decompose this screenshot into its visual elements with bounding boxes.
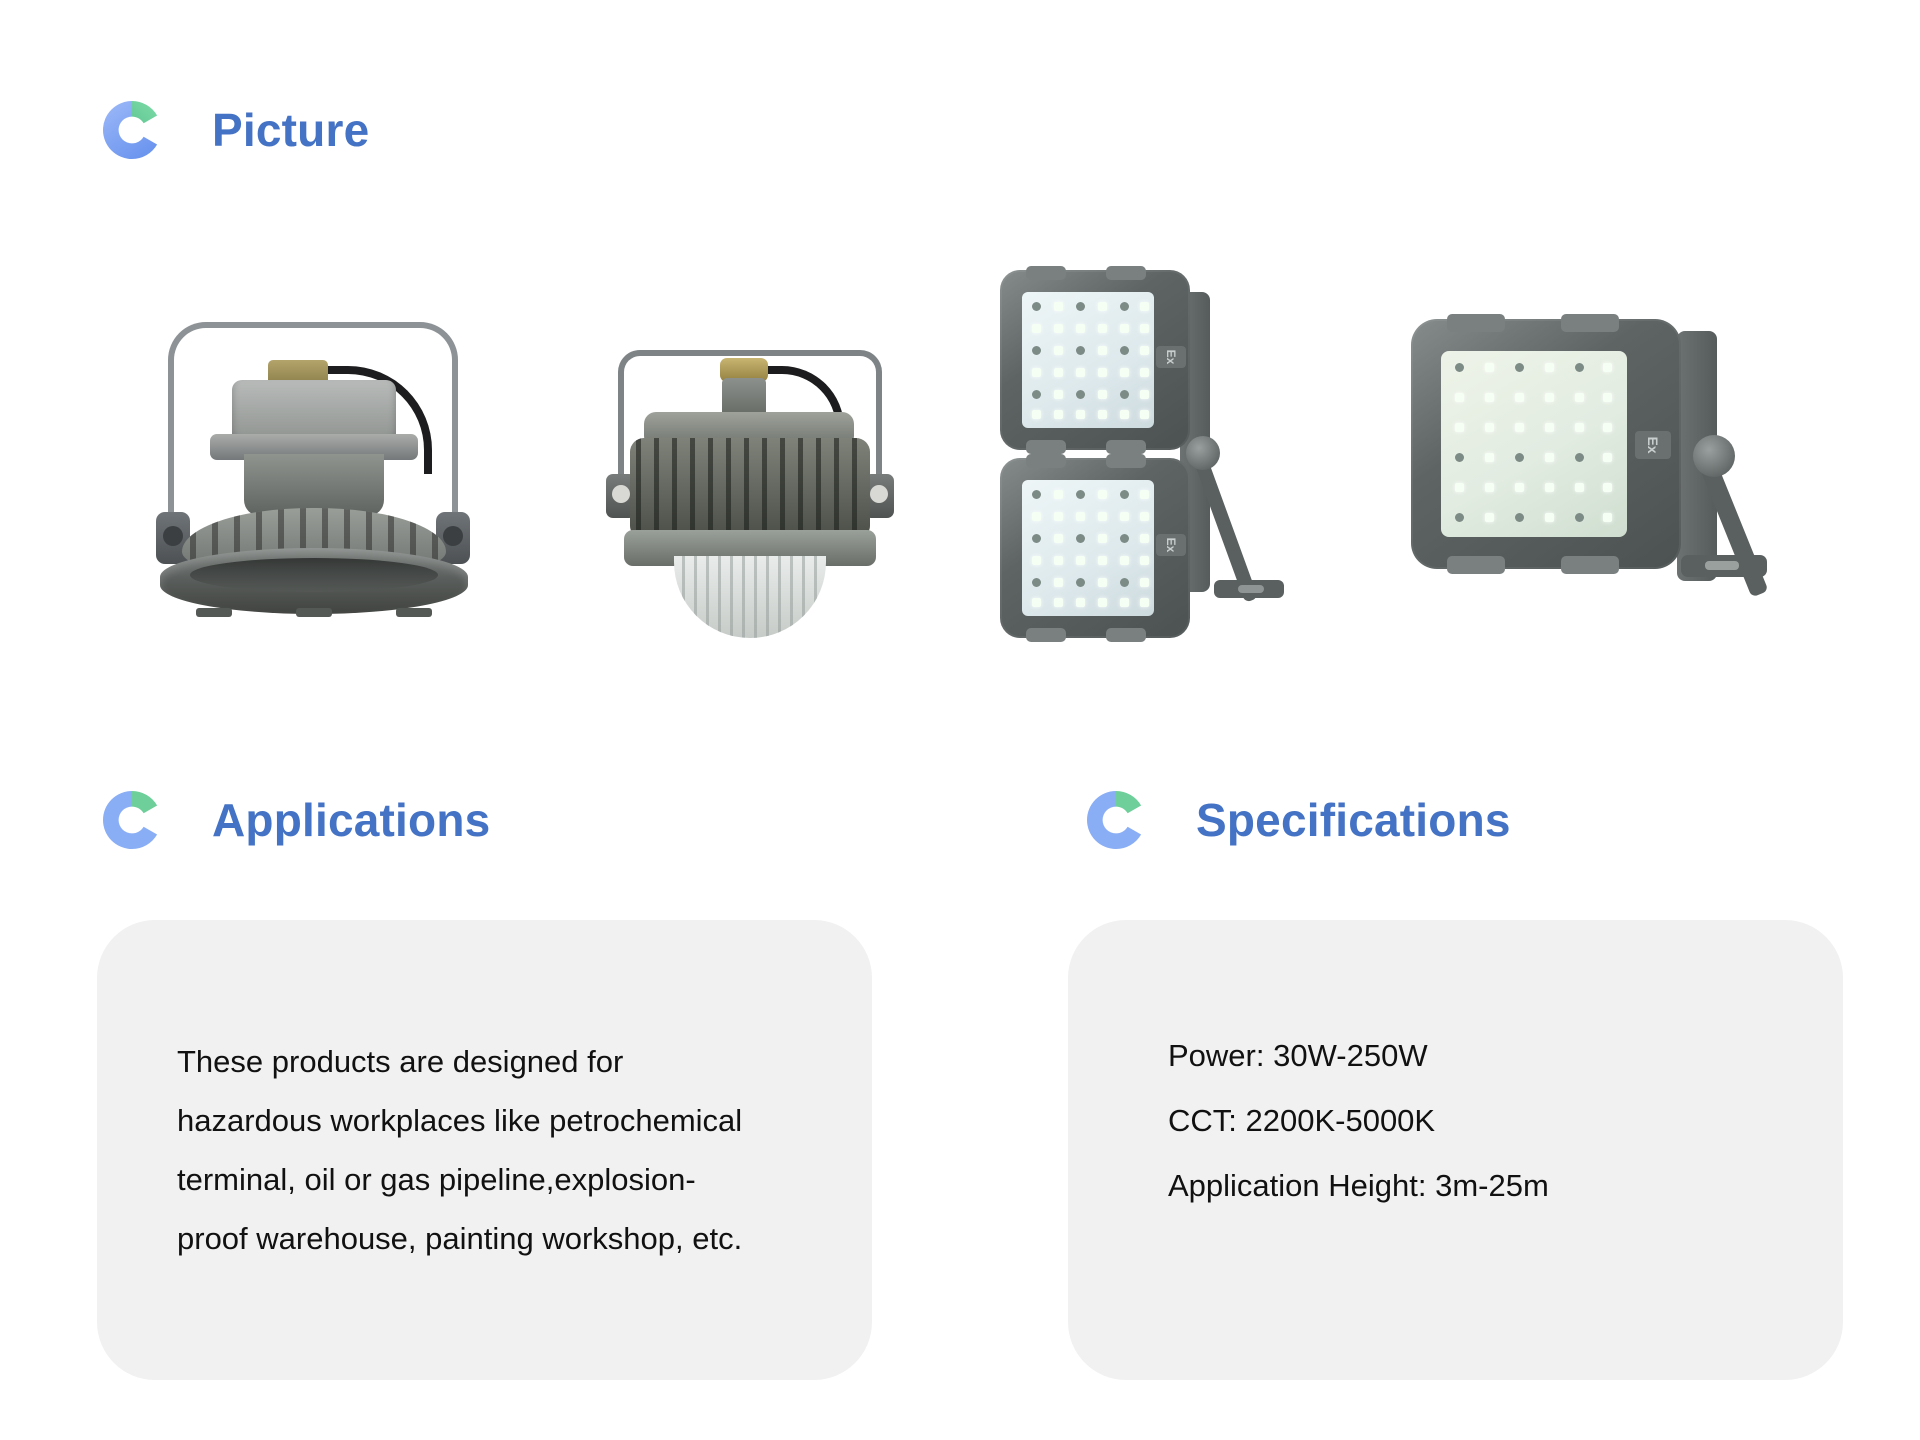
applications-line: proof warehouse, painting workshop, etc.: [177, 1223, 797, 1254]
section-header-picture: Picture: [98, 96, 369, 164]
spec-line-cct: CCT: 2200K-5000K: [1168, 1105, 1808, 1136]
product-image-strip: Ex: [0, 250, 1920, 700]
flood-module-lower: Ex: [1000, 458, 1190, 638]
applications-text: These products are designed for hazardou…: [177, 1046, 797, 1282]
section-header-applications: Applications: [98, 786, 490, 854]
spec-line-application-height: Application Height: 3m-25m: [1168, 1170, 1808, 1201]
housing-bump: [1561, 556, 1619, 574]
housing-bump: [1106, 440, 1146, 454]
spec-line-power: Power: 30W-250W: [1168, 1040, 1808, 1071]
c-ring-logo-icon: [98, 786, 166, 854]
specifications-text: Power: 30W-250W CCT: 2200K-5000K Applica…: [1168, 1040, 1808, 1235]
section-header-specifications: Specifications: [1082, 786, 1511, 854]
applications-line: terminal, oil or gas pipeline,explosion-: [177, 1164, 797, 1195]
section-title: Applications: [212, 797, 490, 843]
ex-marking-label: Ex: [1156, 346, 1186, 368]
rim-foot-right: [396, 608, 432, 617]
housing-bump: [1026, 628, 1066, 642]
housing-bump: [1561, 314, 1619, 332]
rim-foot-left: [196, 608, 232, 617]
heat-sink-fins: [630, 438, 870, 536]
product-image-explosion-proof-led-high-bay-light: [148, 322, 478, 632]
reflector-rim: [160, 548, 468, 614]
c-ring-logo-icon: [1082, 786, 1150, 854]
ex-marking-label: Ex: [1156, 534, 1186, 556]
body-casting: [244, 454, 384, 516]
frosted-glass-dome: [674, 556, 826, 638]
housing-bump: [1106, 454, 1146, 468]
section-title: Specifications: [1196, 797, 1511, 843]
applications-line: These products are designed for: [177, 1046, 797, 1077]
led-lens: [1441, 351, 1627, 537]
housing-bump: [1106, 628, 1146, 642]
housing-bump: [1447, 556, 1505, 574]
specifications-card: Power: 30W-250W CCT: 2200K-5000K Applica…: [1068, 920, 1843, 1380]
ex-marking-label: Ex: [1635, 431, 1671, 459]
bracket-slot: [1238, 585, 1264, 593]
housing-bump: [1106, 266, 1146, 280]
c-ring-logo-icon: [98, 96, 166, 164]
housing-bump: [1447, 314, 1505, 332]
housing-bump: [1026, 440, 1066, 454]
section-title: Picture: [212, 107, 369, 153]
flood-module: Ex: [1411, 319, 1681, 569]
housing-bump: [1026, 454, 1066, 468]
applications-card: These products are designed for hazardou…: [97, 920, 872, 1380]
rim-foot-center: [296, 608, 332, 617]
product-image-explosion-proof-dome-light: [600, 350, 900, 640]
flood-module-upper: Ex: [1000, 270, 1190, 450]
applications-line: hazardous workplaces like petrochemical: [177, 1105, 797, 1136]
product-image-single-module-led-flood-light: Ex: [1405, 305, 1785, 635]
led-lens: [1022, 292, 1154, 428]
bracket-slot: [1705, 561, 1739, 570]
led-lens: [1022, 480, 1154, 616]
housing-bump: [1026, 266, 1066, 280]
tilt-pivot: [1693, 435, 1735, 477]
tilt-pivot: [1186, 436, 1220, 470]
product-image-dual-module-led-flood-light: Ex: [990, 250, 1280, 670]
